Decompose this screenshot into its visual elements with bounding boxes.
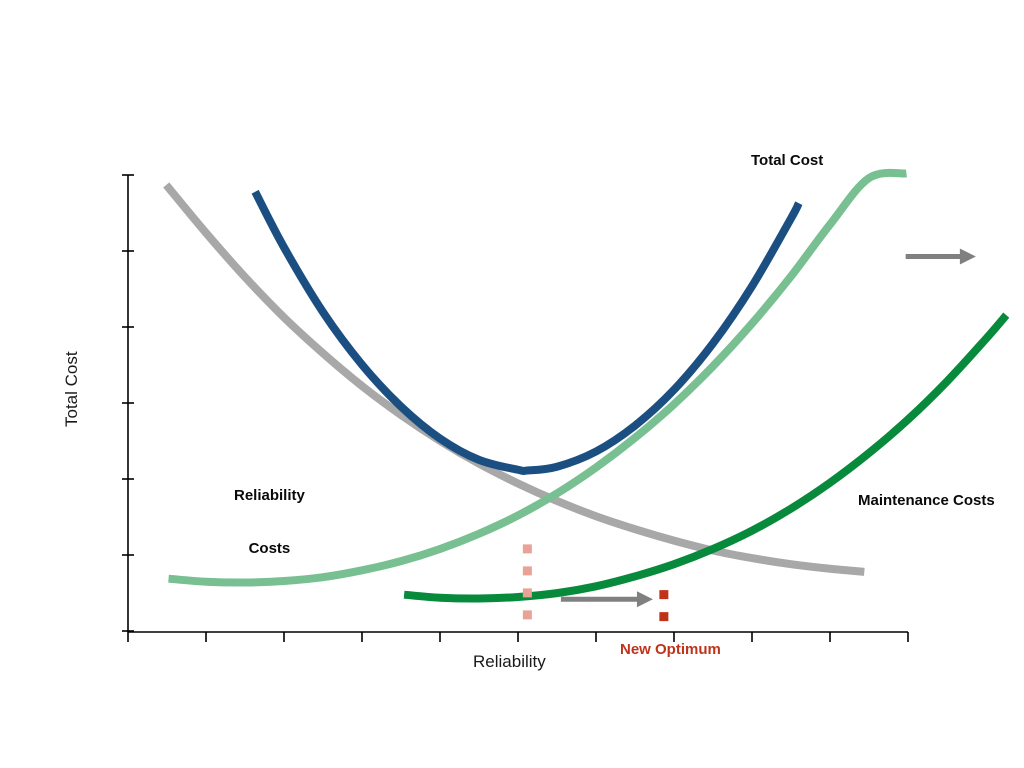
series-label-maintenance-costs: Maintenance Costs xyxy=(858,492,995,510)
shift-arrow-upper-icon xyxy=(906,248,976,264)
series-line-total-cost xyxy=(255,192,799,471)
x-axis-ticks xyxy=(128,632,908,642)
annotation-label-new-optimum: New Optimum xyxy=(620,641,721,659)
series-label-total-cost: Total Cost xyxy=(751,152,823,170)
series-label-reliability-costs-line1: Reliability xyxy=(234,487,305,505)
series-label-reliability-costs-line2: Costs xyxy=(234,540,305,558)
x-axis-label: Reliability xyxy=(473,652,546,672)
y-axis-label: Total Cost xyxy=(62,351,82,427)
chart-container: Total Cost Reliability Costs Maintenance… xyxy=(0,0,1024,768)
series-label-reliability-costs: Reliability Costs xyxy=(234,452,305,594)
